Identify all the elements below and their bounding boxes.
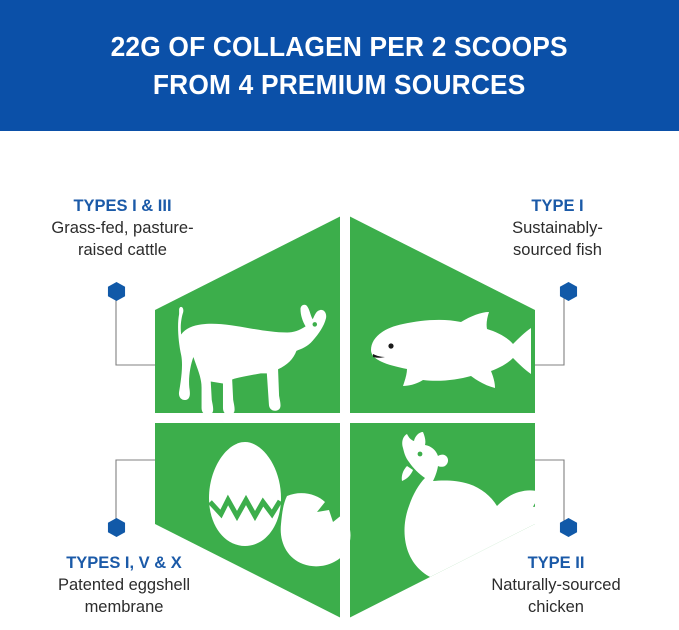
- source-description-fish-line2: sourced fish: [455, 240, 660, 261]
- source-description-fish: Sustainably- sourced fish: [455, 218, 660, 261]
- banner-headline-line1: 22G OF COLLAGEN PER 2 SCOOPS: [111, 28, 568, 65]
- source-label-bottom-right: TYPE II Naturally-sourced chicken: [450, 553, 662, 618]
- source-label-top-right: TYPE I Sustainably- sourced fish: [455, 196, 660, 261]
- marker-hexagon-top-left: [107, 281, 126, 302]
- source-kicker-eggshell: TYPES I, V & X: [18, 553, 230, 573]
- source-kicker-chicken: TYPE II: [450, 553, 662, 573]
- source-description-cattle-line2: raised cattle: [20, 240, 225, 261]
- infographic-page: 22G OF COLLAGEN PER 2 SCOOPS FROM 4 PREM…: [0, 0, 679, 630]
- source-description-eggshell-line1: Patented eggshell: [18, 575, 230, 596]
- banner-headline-line2: FROM 4 PREMIUM SOURCES: [153, 66, 526, 103]
- source-description-cattle: Grass-fed, pasture- raised cattle: [20, 218, 225, 261]
- source-label-top-left: TYPES I & III Grass-fed, pasture- raised…: [20, 196, 225, 261]
- source-description-fish-line1: Sustainably-: [455, 218, 660, 239]
- source-kicker-cattle: TYPES I & III: [20, 196, 225, 216]
- hex-divider-horizontal: [155, 413, 535, 423]
- marker-hexagon-bottom-right: [559, 517, 578, 538]
- marker-hexagon-bottom-left: [107, 517, 126, 538]
- source-label-bottom-left: TYPES I, V & X Patented eggshell membran…: [18, 553, 230, 618]
- header-banner: 22G OF COLLAGEN PER 2 SCOOPS FROM 4 PREM…: [0, 0, 679, 131]
- source-description-eggshell-line2: membrane: [18, 597, 230, 618]
- source-description-eggshell: Patented eggshell membrane: [18, 575, 230, 618]
- source-kicker-fish: TYPE I: [455, 196, 660, 216]
- source-description-chicken-line1: Naturally-sourced: [450, 575, 662, 596]
- source-description-chicken: Naturally-sourced chicken: [450, 575, 662, 618]
- source-description-chicken-line2: chicken: [450, 597, 662, 618]
- source-description-cattle-line1: Grass-fed, pasture-: [20, 218, 225, 239]
- marker-hexagon-top-right: [559, 281, 578, 302]
